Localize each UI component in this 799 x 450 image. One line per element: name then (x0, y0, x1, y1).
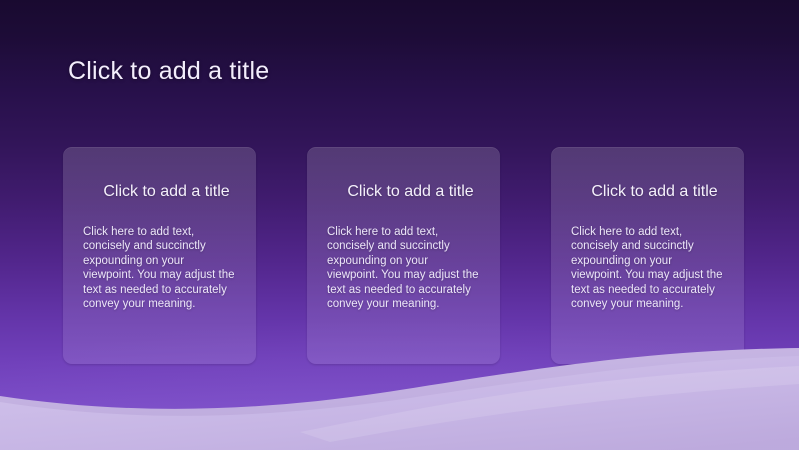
content-card-3[interactable]: Click to add a title Click here to add t… (551, 147, 744, 364)
content-card-1[interactable]: Click to add a title Click here to add t… (63, 147, 256, 364)
card-title[interactable]: Click to add a title (63, 183, 256, 201)
page-title[interactable]: Click to add a title (68, 57, 269, 86)
card-body-text[interactable]: Click here to add text, concisely and su… (83, 225, 235, 311)
card-body-text[interactable]: Click here to add text, concisely and su… (571, 225, 723, 311)
content-card-2[interactable]: Click to add a title Click here to add t… (307, 147, 500, 364)
card-title[interactable]: Click to add a title (307, 183, 500, 201)
wave-front-band (0, 356, 799, 450)
card-body-text[interactable]: Click here to add text, concisely and su… (327, 225, 479, 311)
card-title[interactable]: Click to add a title (551, 183, 744, 201)
card-row: Click to add a title Click here to add t… (63, 147, 744, 364)
wave-highlight (300, 366, 799, 442)
slide-canvas: Click to add a title Click to add a titl… (0, 0, 799, 450)
